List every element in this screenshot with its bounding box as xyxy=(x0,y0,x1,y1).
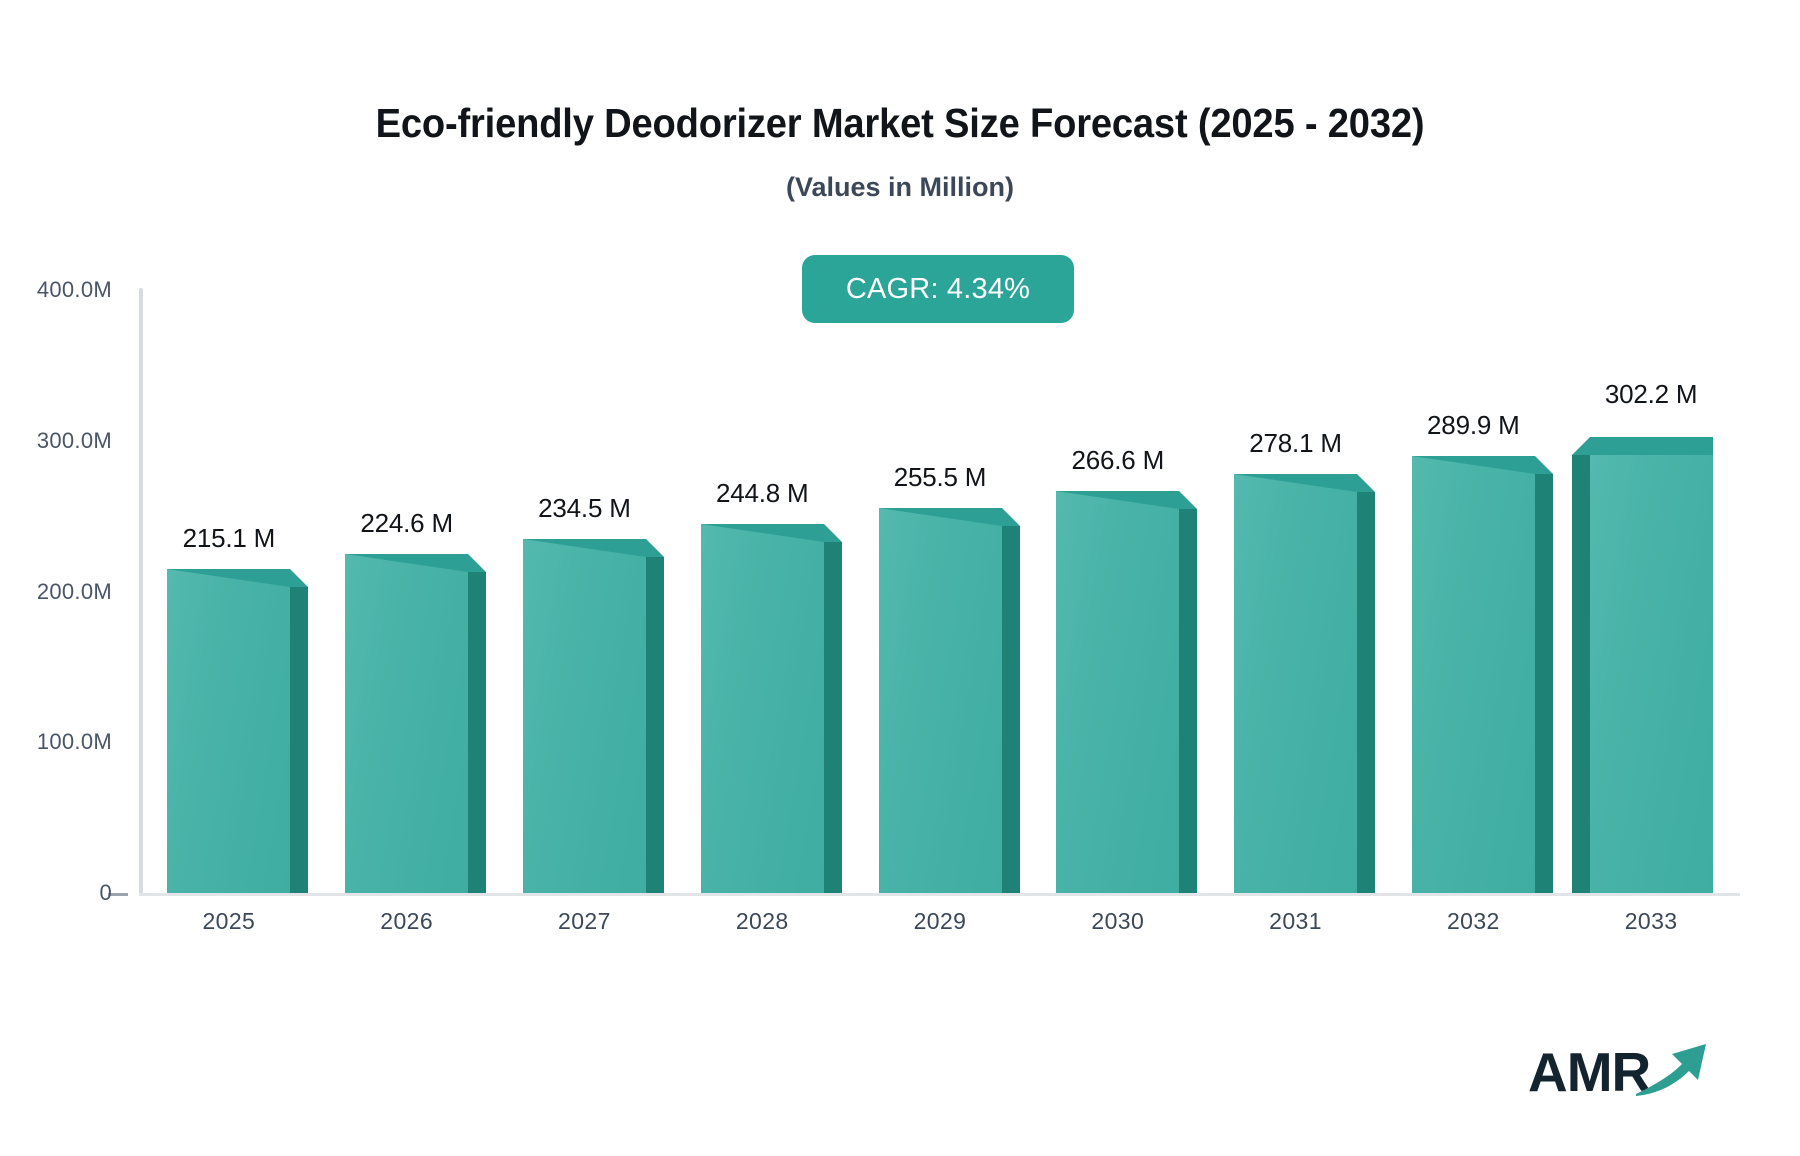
x-axis-tick-label: 2032 xyxy=(1393,908,1553,935)
bar-2026[interactable] xyxy=(345,554,468,893)
bar-value-label: 302.2 M xyxy=(1541,379,1761,410)
bar-side-face xyxy=(1179,509,1197,893)
bar-front-face xyxy=(1590,455,1713,893)
y-axis-tick-label: 200.0M xyxy=(0,579,112,605)
bar-side-face xyxy=(468,572,486,893)
bar-top-face xyxy=(879,508,1020,528)
bar-top-face xyxy=(1572,437,1713,457)
x-axis-tick-label: 2026 xyxy=(327,908,487,935)
bar-side-face xyxy=(290,587,308,893)
bar-2029[interactable] xyxy=(879,508,1002,893)
bar-front-face xyxy=(701,524,824,893)
bar-top-face xyxy=(523,539,664,559)
bar-front-face xyxy=(879,508,1002,893)
y-axis-tick-label: 300.0M xyxy=(0,428,112,454)
bar-2032[interactable] xyxy=(1412,456,1535,893)
y-axis-tick-label: 400.0M xyxy=(0,277,112,303)
x-axis-line xyxy=(139,893,1740,896)
bar-side-face xyxy=(1357,492,1375,893)
bar-2027[interactable] xyxy=(523,539,646,893)
x-axis-tick-label: 2028 xyxy=(682,908,842,935)
bar-2030[interactable] xyxy=(1056,491,1179,893)
bar-side-face xyxy=(824,542,842,893)
bar-2028[interactable] xyxy=(701,524,824,893)
bar-value-label: 289.9 M xyxy=(1363,410,1583,441)
bar-top-face xyxy=(167,569,308,589)
x-axis-tick-label: 2027 xyxy=(504,908,664,935)
x-axis-tick-label: 2025 xyxy=(149,908,309,935)
bar-front-face xyxy=(167,569,290,893)
x-axis-tick-label: 2031 xyxy=(1216,908,1376,935)
chart-canvas: Eco-friendly Deodorizer Market Size Fore… xyxy=(0,0,1800,1156)
y-axis-line xyxy=(139,288,143,895)
trend-up-arrow-icon xyxy=(1634,1038,1712,1100)
bar-front-face xyxy=(1412,456,1535,893)
bar-front-face xyxy=(523,539,646,893)
bar-2033[interactable] xyxy=(1590,437,1713,893)
bar-side-face xyxy=(1002,526,1020,893)
bar-2031[interactable] xyxy=(1234,474,1357,893)
plot-area: 0100.0M200.0M300.0M400.0M 20252026202720… xyxy=(0,0,1800,1156)
bar-side-face xyxy=(1535,474,1553,893)
amr-logo: AMR xyxy=(1528,1034,1708,1114)
y-axis-tick-label: 100.0M xyxy=(0,729,112,755)
x-axis-tick-label: 2029 xyxy=(860,908,1020,935)
bar-2025[interactable] xyxy=(167,569,290,893)
bar-front-face xyxy=(345,554,468,893)
bar-top-face xyxy=(701,524,842,544)
bar-top-face xyxy=(345,554,486,574)
amr-logo-text: AMR xyxy=(1528,1040,1650,1104)
bar-top-face xyxy=(1056,491,1197,511)
bar-front-face xyxy=(1056,491,1179,893)
bar-side-face xyxy=(1572,455,1590,893)
x-axis-tick-label: 2033 xyxy=(1571,908,1731,935)
bar-top-face xyxy=(1412,456,1553,476)
y-axis-tick-label: 0 xyxy=(0,880,112,906)
bar-front-face xyxy=(1234,474,1357,893)
bar-side-face xyxy=(646,557,664,893)
bar-top-face xyxy=(1234,474,1375,494)
x-axis-tick-label: 2030 xyxy=(1038,908,1198,935)
